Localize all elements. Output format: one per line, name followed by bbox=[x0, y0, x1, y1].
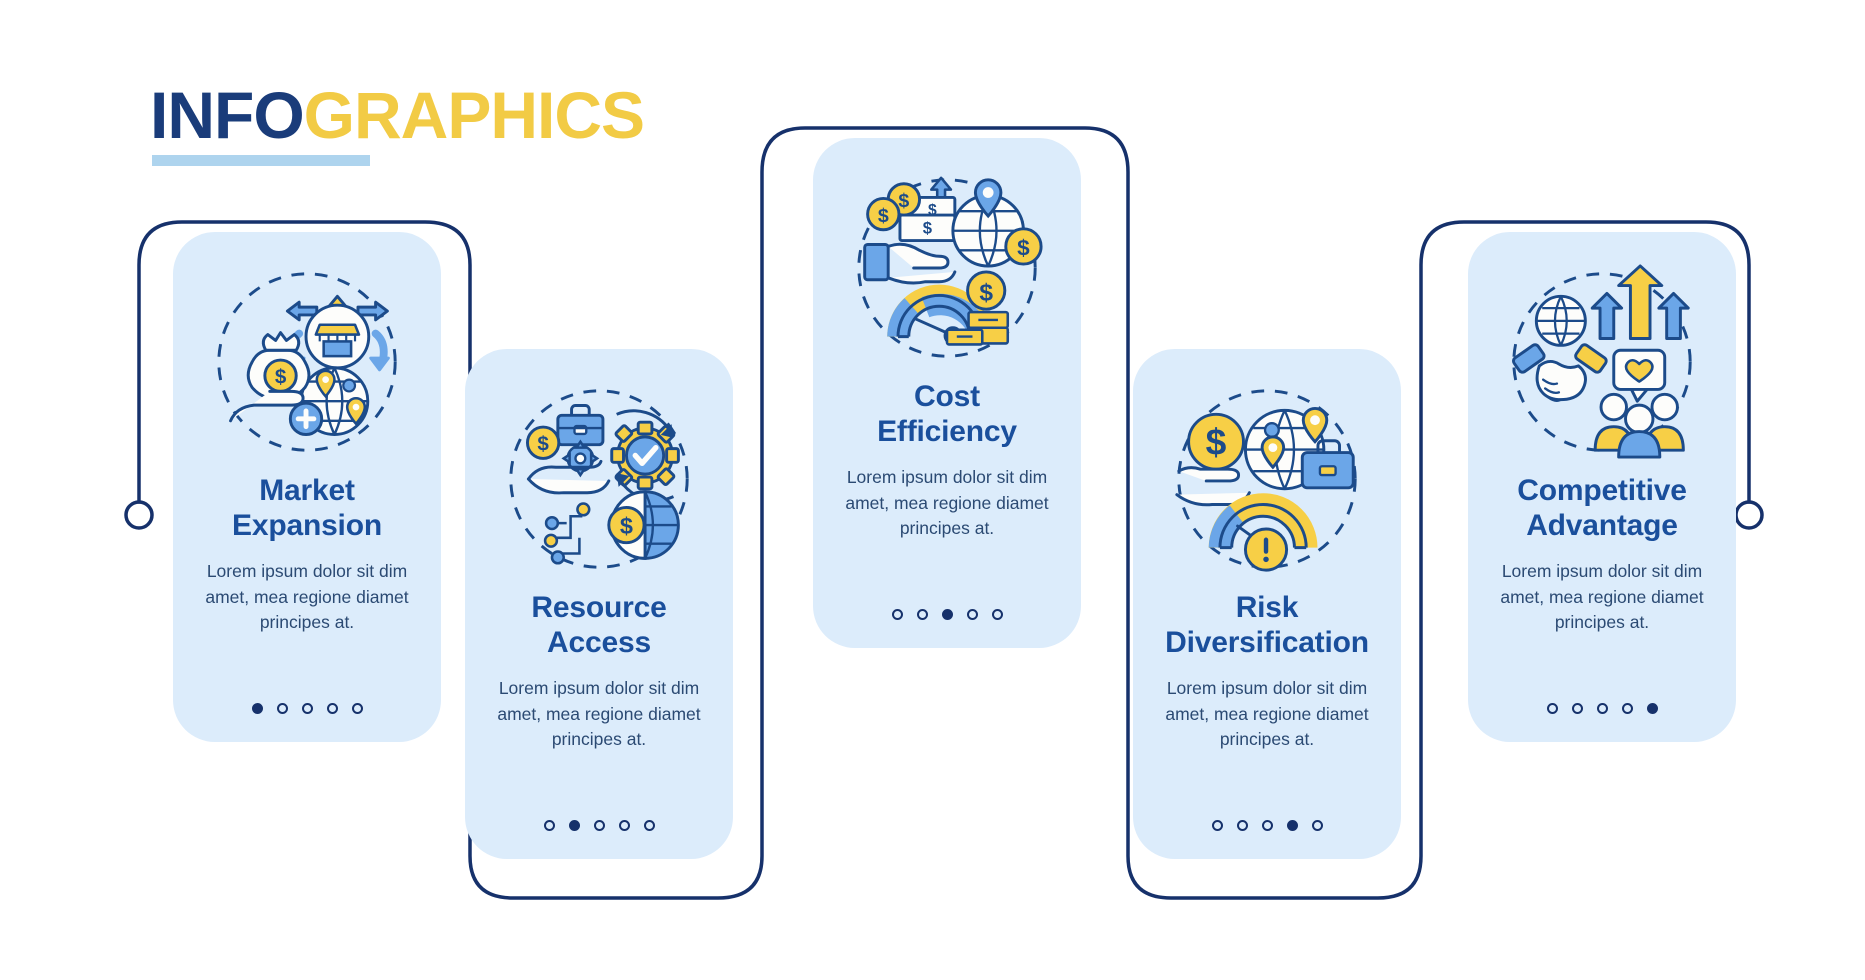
dot-1[interactable] bbox=[1212, 820, 1223, 831]
dot-4[interactable] bbox=[327, 703, 338, 714]
dot-2[interactable] bbox=[277, 703, 288, 714]
svg-text:$: $ bbox=[275, 366, 287, 389]
market-expansion-icon: $ bbox=[209, 264, 405, 460]
card-title: RiskDiversification bbox=[1165, 591, 1369, 660]
dot-1[interactable] bbox=[892, 609, 903, 620]
dot-4[interactable] bbox=[1622, 703, 1633, 714]
svg-text:$: $ bbox=[620, 513, 633, 539]
step-card-cost-efficiency[interactable]: $ $ $ $ $ bbox=[813, 138, 1081, 648]
risk-diversification-icon: $ bbox=[1169, 381, 1365, 577]
card-title: ResourceAccess bbox=[531, 591, 666, 660]
cost-efficiency-icon: $ $ $ $ $ bbox=[849, 170, 1045, 366]
dot-5[interactable] bbox=[352, 703, 363, 714]
card-body-text: Lorem ipsum dolor sit dim amet, mea regi… bbox=[195, 559, 419, 636]
dot-2[interactable] bbox=[1572, 703, 1583, 714]
competitive-advantage-icon bbox=[1504, 264, 1700, 460]
dot-2[interactable] bbox=[917, 609, 928, 620]
dot-3[interactable] bbox=[1597, 703, 1608, 714]
step-indicator-dots[interactable] bbox=[1212, 820, 1323, 831]
dot-5[interactable] bbox=[644, 820, 655, 831]
dot-5[interactable] bbox=[1312, 820, 1323, 831]
dot-2[interactable] bbox=[569, 820, 580, 831]
dot-5[interactable] bbox=[1647, 703, 1658, 714]
card-body-text: Lorem ipsum dolor sit dim amet, mea regi… bbox=[835, 465, 1059, 542]
svg-text:$: $ bbox=[537, 433, 549, 456]
step-card-risk-diversification[interactable]: $ RiskDiversific bbox=[1133, 349, 1401, 859]
svg-text:$: $ bbox=[898, 190, 909, 212]
end-node-circle bbox=[1736, 502, 1762, 528]
svg-text:$: $ bbox=[1017, 235, 1030, 260]
card-body-text: Lorem ipsum dolor sit dim amet, mea regi… bbox=[1155, 676, 1379, 753]
step-indicator-dots[interactable] bbox=[892, 609, 1003, 620]
svg-text:$: $ bbox=[979, 279, 993, 306]
infographic-canvas: INFOGRAPHICS bbox=[0, 0, 1865, 980]
card-body-text: Lorem ipsum dolor sit dim amet, mea regi… bbox=[487, 676, 711, 753]
resource-access-icon: $ bbox=[501, 381, 697, 577]
step-card-competitive-advantage[interactable]: CompetitiveAdvantage Lorem ipsum dolor s… bbox=[1468, 232, 1736, 742]
dot-4[interactable] bbox=[619, 820, 630, 831]
card-title: CompetitiveAdvantage bbox=[1517, 474, 1687, 543]
start-node-circle bbox=[126, 502, 152, 528]
dot-4[interactable] bbox=[967, 609, 978, 620]
dot-3[interactable] bbox=[1262, 820, 1273, 831]
card-title: MarketExpansion bbox=[232, 474, 382, 543]
step-indicator-dots[interactable] bbox=[252, 703, 363, 714]
dot-5[interactable] bbox=[992, 609, 1003, 620]
step-indicator-dots[interactable] bbox=[544, 820, 655, 831]
dot-4[interactable] bbox=[1287, 820, 1298, 831]
dot-3[interactable] bbox=[942, 609, 953, 620]
card-body-text: Lorem ipsum dolor sit dim amet, mea regi… bbox=[1490, 559, 1714, 636]
dot-1[interactable] bbox=[1547, 703, 1558, 714]
step-card-resource-access[interactable]: $ bbox=[465, 349, 733, 859]
dot-1[interactable] bbox=[544, 820, 555, 831]
dot-2[interactable] bbox=[1237, 820, 1248, 831]
dot-3[interactable] bbox=[302, 703, 313, 714]
svg-text:$: $ bbox=[1206, 421, 1227, 463]
svg-text:$: $ bbox=[878, 205, 889, 227]
svg-text:$: $ bbox=[923, 219, 933, 238]
step-indicator-dots[interactable] bbox=[1547, 703, 1658, 714]
card-title: CostEfficiency bbox=[877, 380, 1017, 449]
dot-3[interactable] bbox=[594, 820, 605, 831]
step-card-market-expansion[interactable]: $ MarketExpansion Lorem ipsum dolor sit … bbox=[173, 232, 441, 742]
dot-1[interactable] bbox=[252, 703, 263, 714]
